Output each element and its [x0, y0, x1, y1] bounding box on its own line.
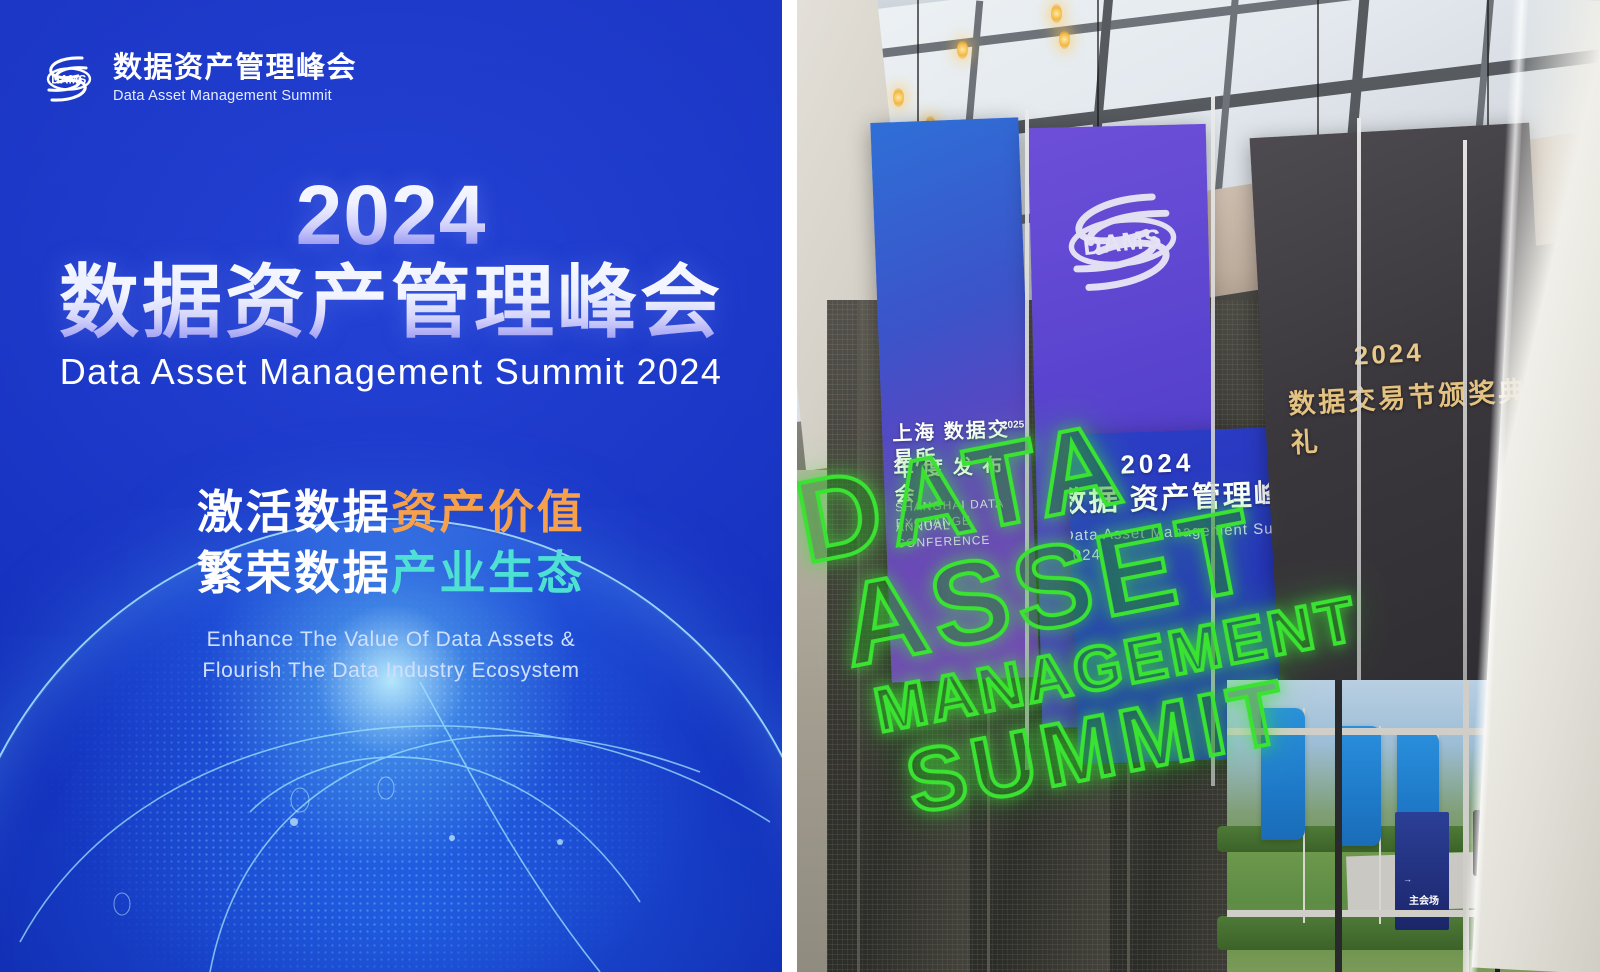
poster-title-en: Data Asset Management Summit 2024	[0, 351, 782, 392]
support-pole	[1357, 118, 1361, 758]
banner-mid2-year: 2024	[1120, 446, 1195, 481]
dams-swoosh-logo-icon: DAMS	[1043, 178, 1203, 306]
poster-year: 2024	[0, 176, 782, 256]
svg-text:DAMS: DAMS	[51, 74, 86, 86]
brand-name-en: Data Asset Management Summit	[113, 87, 357, 105]
window-mullion	[1335, 680, 1342, 972]
support-pole	[1025, 110, 1029, 770]
slogan-subtitle: Enhance The Value Of Data Assets & Flour…	[0, 625, 782, 686]
hanging-cable	[1317, 0, 1319, 150]
poster-title-cn: 数据资产管理峰会	[0, 260, 782, 346]
poster-slogan-block: 激活数据资产价值 繁荣数据产业生态 Enhance The Value Of D…	[0, 482, 782, 686]
poster-title-block: 2024 数据资产管理峰会 Data Asset Management Summ…	[0, 176, 782, 393]
slogan-line-2-white: 繁荣数据	[197, 547, 391, 599]
ceiling-lamp-icon	[1051, 4, 1062, 23]
support-pole	[1463, 140, 1467, 700]
banner-right-year: 2024	[1353, 337, 1424, 372]
ceiling-lamp-icon	[957, 40, 968, 59]
support-pole	[1211, 96, 1215, 786]
dams-swoosh-logo-icon: DAMS	[38, 48, 100, 110]
panel-divider	[782, 0, 797, 972]
brand-name-cn: 数据资产管理峰会	[113, 53, 357, 84]
standee-arrow-icon: →	[1403, 874, 1412, 884]
banner-left-en-line-2: ANNUAL CONFERENCE	[896, 515, 1035, 551]
brand-logo-lockup: DAMS 数据资产管理峰会 Data Asset Management Summ…	[38, 48, 357, 110]
ceiling-lamp-icon	[1059, 30, 1070, 49]
slogan-subtitle-line-1: Enhance The Value Of Data Assets &	[0, 625, 782, 655]
banner-left-year: 2025	[1002, 419, 1025, 432]
standee-label: 主会场	[1409, 892, 1439, 907]
poster-stage: DAMS 数据资产管理峰会 Data Asset Management Summ…	[0, 0, 1600, 972]
feather-flag-banner	[1339, 726, 1381, 846]
slogan-line-1: 激活数据资产价值	[0, 482, 782, 543]
venue-photograph: 上海 数据交易所 年 度 发 布 会 2025 SHANGHAI DATA EX…	[797, 0, 1600, 972]
slogan-line-1-white: 激活数据	[197, 486, 391, 538]
slogan-line-2-accent: 产业生态	[391, 547, 585, 599]
slogan-subtitle-line-2: Flourish The Data Industry Ecosystem	[0, 656, 782, 686]
network-arcs	[0, 642, 782, 972]
banner-shanghai-data-exchange: 上海 数据交易所 年 度 发 布 会 2025 SHANGHAI DATA EX…	[870, 117, 1039, 682]
slogan-line-2: 繁荣数据产业生态	[0, 543, 782, 604]
slogan-line-1-accent: 资产价值	[391, 486, 585, 538]
key-visual-panel: DAMS 数据资产管理峰会 Data Asset Management Summ…	[0, 0, 782, 972]
ceiling-lamp-icon	[893, 88, 904, 107]
